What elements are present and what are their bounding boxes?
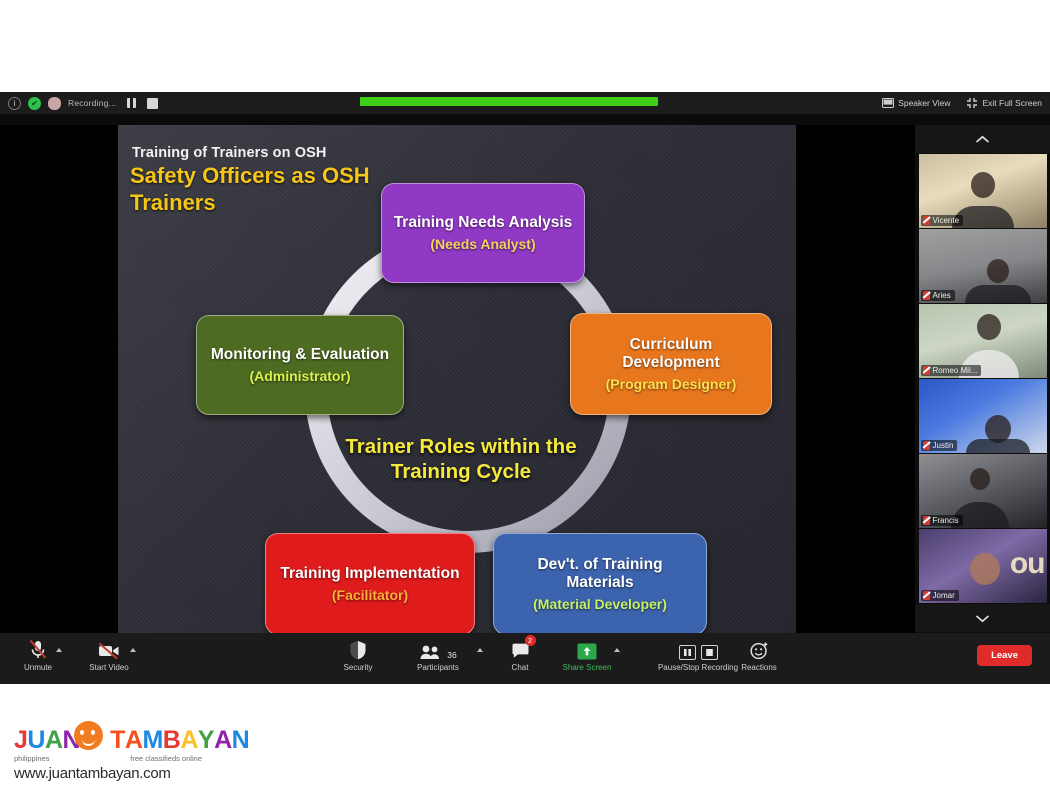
cycle-node-training-needs-analysis[interactable]: Training Needs Analysis (Needs Analyst): [381, 183, 585, 283]
speaker-view-label: Speaker View: [898, 98, 950, 108]
participant-nametag: Romeo Mil...: [921, 365, 982, 376]
watermark-logo-letter: U: [27, 728, 45, 753]
speaker-view-button[interactable]: Speaker View: [882, 98, 950, 108]
cycle-node-curriculum-development[interactable]: Curriculum Development (Program Designer…: [570, 313, 772, 415]
recording-controls-group: [679, 638, 718, 660]
exit-full-screen-label: Exit Full Screen: [982, 98, 1042, 108]
participant-tile[interactable]: Aries: [919, 229, 1047, 303]
chevron-up-icon: [975, 135, 990, 144]
unmute-button[interactable]: Unmute: [5, 638, 71, 672]
cycle-node-monitoring-evaluation[interactable]: Monitoring & Evaluation (Administrator): [196, 315, 404, 415]
meeting-toolbar: Unmute Start Video Security: [0, 633, 1050, 684]
cycle-node-training-implementation[interactable]: Training Implementation (Facilitator): [265, 533, 475, 635]
node-name: Dev't. of Training Materials: [502, 556, 698, 592]
chat-bubble-icon: 2: [511, 638, 530, 660]
participant-name: Romeo Mil...: [933, 366, 978, 375]
watermark-tagline: philippines free classifieds online: [14, 754, 202, 763]
microphone-muted-icon: [923, 216, 930, 225]
audio-options-caret-icon[interactable]: [56, 648, 62, 652]
presentation-slide: Training of Trainers on OSH Safety Offic…: [118, 125, 796, 633]
watermark-logo-letter: N: [232, 728, 250, 753]
watermark-logo-letter: T: [110, 728, 125, 753]
node-role: (Needs Analyst): [430, 237, 535, 252]
participant-filmstrip: Vicente Aries Romeo Mil... Justi: [915, 125, 1050, 633]
top-stop-recording-icon[interactable]: [147, 98, 158, 109]
node-name: Curriculum Development: [579, 336, 763, 372]
node-role: (Facilitator): [332, 588, 408, 603]
watermark-tagline-left: philippines: [14, 754, 49, 763]
node-role: (Administrator): [249, 369, 350, 384]
exit-fullscreen-icon: [966, 97, 978, 109]
share-screen-icon: [577, 638, 597, 660]
meeting-top-bar: i ✔ Recording... Speaker View Exit Full …: [0, 92, 1050, 114]
participant-nametag: Justin: [921, 440, 958, 451]
screen-share-indicator-bar: [360, 97, 658, 106]
watermark-logo-letter: A: [45, 728, 63, 753]
slide-subtitle: Training of Trainers on OSH: [132, 145, 326, 161]
node-role: (Program Designer): [606, 377, 737, 392]
reactions-emoji-icon: [750, 638, 769, 660]
microphone-muted-icon: [923, 291, 930, 300]
filmstrip-overlay-text: ou: [1010, 547, 1045, 581]
watermark-tagline-right: free classifieds online: [130, 754, 202, 763]
participant-tile[interactable]: Francis: [919, 454, 1047, 528]
recording-status-group: i ✔ Recording...: [0, 97, 158, 110]
cloud-recording-icon: [48, 97, 61, 110]
watermark-logo: JUANTAMBAYAN: [14, 728, 249, 753]
node-role: (Material Developer): [533, 597, 667, 612]
participants-count: 36: [447, 650, 456, 660]
microphone-muted-icon: [923, 441, 930, 450]
participant-name: Vicente: [933, 216, 960, 225]
watermark-logo-letter: M: [142, 728, 162, 753]
participant-nametag: Jomar: [921, 590, 959, 601]
speaker-view-icon: [882, 98, 894, 108]
microphone-muted-icon: [923, 516, 930, 525]
chat-unread-badge: 2: [525, 635, 536, 646]
slide-center-text: Trainer Roles within the Training Cycle: [316, 435, 606, 484]
participant-name: Aries: [933, 291, 951, 300]
chat-label: Chat: [512, 663, 529, 672]
watermark-logo-letter: Y: [198, 728, 214, 753]
participant-tile[interactable]: Vicente: [919, 154, 1047, 228]
start-video-label: Start Video: [89, 663, 128, 672]
security-label: Security: [344, 663, 373, 672]
watermark-logo-letter: B: [163, 728, 181, 753]
shield-encryption-icon[interactable]: ✔: [28, 97, 41, 110]
shared-screen-stage: Training of Trainers on OSH Safety Offic…: [0, 125, 915, 633]
participant-tile[interactable]: ou Jomar: [919, 529, 1047, 603]
watermark-logo-letter: J: [14, 728, 27, 753]
node-name: Monitoring & Evaluation: [211, 346, 389, 364]
participant-nametag: Francis: [921, 515, 963, 526]
chat-button[interactable]: 2 Chat: [487, 638, 553, 672]
participant-tile[interactable]: Justin: [919, 379, 1047, 453]
pause-icon[interactable]: [679, 645, 696, 660]
microphone-muted-icon: [923, 591, 930, 600]
microphone-muted-icon: [28, 638, 48, 660]
participants-button[interactable]: 36 Participants: [405, 638, 471, 672]
node-name: Training Implementation: [280, 565, 459, 583]
start-video-button[interactable]: Start Video: [76, 638, 142, 672]
info-icon[interactable]: i: [8, 97, 21, 110]
video-off-icon: [98, 638, 120, 660]
participant-nametag: Aries: [921, 290, 955, 301]
filmstrip-scroll-up-button[interactable]: [915, 125, 1050, 153]
top-pause-recording-icon[interactable]: [127, 98, 136, 108]
share-screen-button[interactable]: Share Screen: [554, 638, 620, 672]
exit-full-screen-button[interactable]: Exit Full Screen: [966, 97, 1042, 109]
microphone-muted-icon: [923, 366, 930, 375]
reactions-label: Reactions: [741, 663, 777, 672]
video-options-caret-icon[interactable]: [130, 648, 136, 652]
watermark-logo-letter: A: [180, 728, 198, 753]
top-bar-right-group: Speaker View Exit Full Screen: [882, 92, 1042, 114]
mascot-face-icon: [74, 721, 103, 750]
participants-label: Participants: [417, 663, 459, 672]
chevron-down-icon: [975, 614, 990, 623]
participant-name: Jomar: [933, 591, 955, 600]
juantambayan-watermark: JUANTAMBAYAN philippines free classified…: [14, 728, 249, 782]
cycle-node-dev-training-materials[interactable]: Dev't. of Training Materials (Material D…: [493, 533, 707, 635]
share-options-caret-icon[interactable]: [614, 648, 620, 652]
unmute-label: Unmute: [24, 663, 52, 672]
leave-button[interactable]: Leave: [977, 645, 1032, 666]
participants-options-caret-icon[interactable]: [477, 648, 483, 652]
share-screen-label: Share Screen: [563, 663, 612, 672]
stop-icon[interactable]: [701, 645, 718, 660]
participant-name: Justin: [933, 441, 954, 450]
watermark-logo-letter: A: [125, 728, 143, 753]
reactions-button[interactable]: Reactions: [726, 638, 792, 672]
node-name: Training Needs Analysis: [394, 214, 573, 232]
watermark-logo-letter: A: [214, 728, 232, 753]
filmstrip-scroll-down-button[interactable]: [915, 604, 1050, 632]
watermark-url: www.juantambayan.com: [14, 765, 249, 782]
participant-name: Francis: [933, 516, 959, 525]
participant-tile[interactable]: Romeo Mil...: [919, 304, 1047, 378]
security-button[interactable]: Security: [325, 638, 391, 672]
zoom-meeting-window: i ✔ Recording... Speaker View Exit Full …: [0, 92, 1050, 684]
shield-security-icon: [349, 638, 367, 660]
participant-nametag: Vicente: [921, 215, 964, 226]
recording-label: Recording...: [68, 98, 116, 108]
participants-icon: 36: [419, 638, 456, 660]
